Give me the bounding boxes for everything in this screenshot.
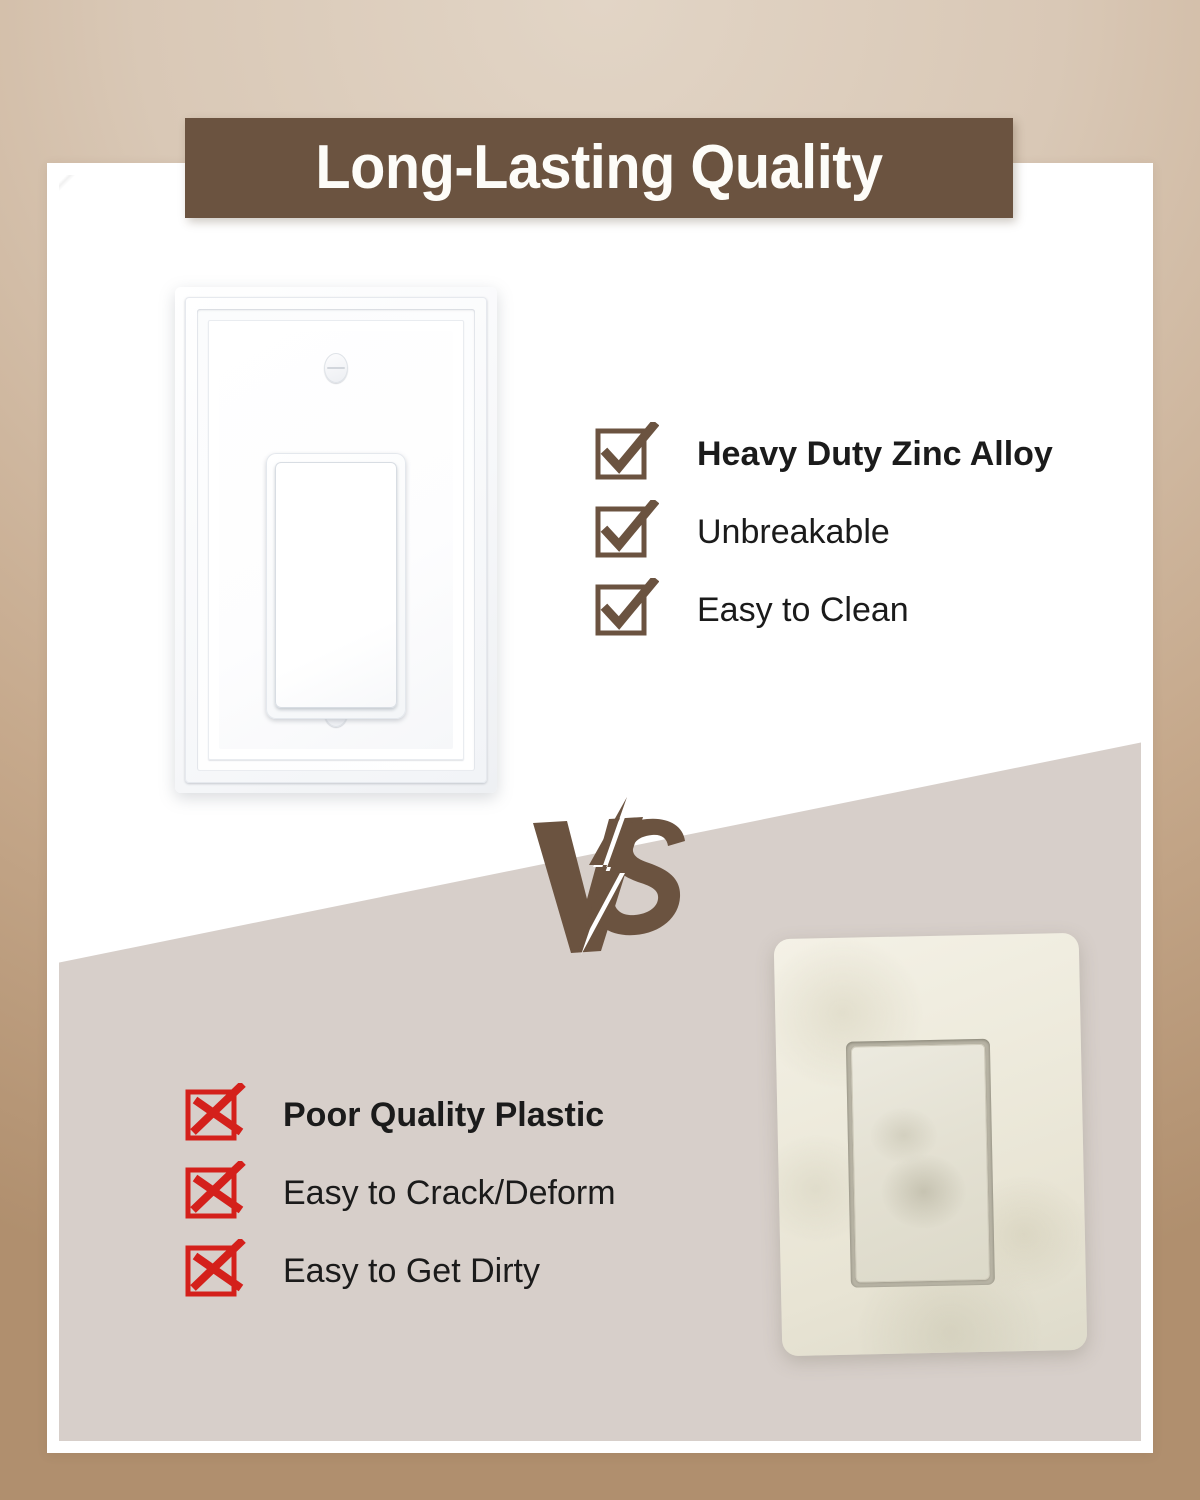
bad-rocker-housing (846, 1039, 995, 1288)
list-item: Heavy Duty Zinc Alloy (596, 415, 1053, 493)
list-item: Easy to Clean (596, 571, 1053, 649)
title-banner: Long-Lasting Quality (185, 118, 1013, 218)
check-box-icon (596, 584, 648, 636)
list-item: Unbreakable (596, 493, 1053, 571)
cross-box-icon (186, 1245, 238, 1297)
rocker-switch-paddle (275, 462, 397, 708)
bad-rocker-paddle (851, 1044, 990, 1283)
plate-face (219, 331, 453, 749)
screw-top-icon (324, 353, 348, 383)
check-box-icon (596, 506, 648, 558)
list-item: Easy to Crack/Deform (186, 1154, 616, 1232)
list-item: Poor Quality Plastic (186, 1076, 616, 1154)
good-feature-list: Heavy Duty Zinc Alloy Unbreakable Easy t… (596, 415, 1053, 649)
bad-feature-list: Poor Quality Plastic Easy to Crack/Defor… (186, 1076, 616, 1310)
bad-rocker-dirt (851, 1044, 990, 1283)
list-item-label: Unbreakable (697, 515, 890, 549)
list-item-label: Easy to Crack/Deform (283, 1176, 616, 1210)
list-item-label: Heavy Duty Zinc Alloy (697, 437, 1053, 471)
good-product-image (175, 287, 497, 793)
list-item-label: Easy to Get Dirty (283, 1254, 540, 1288)
list-item-label: Easy to Clean (697, 593, 909, 627)
vs-lightning-icon (515, 795, 695, 955)
list-item-label: Poor Quality Plastic (283, 1098, 604, 1132)
bad-product-image (774, 933, 1088, 1356)
page-fold-corner (47, 163, 81, 197)
page-title: Long-Lasting Quality (315, 137, 882, 199)
check-box-icon (596, 428, 648, 480)
list-item: Easy to Get Dirty (186, 1232, 616, 1310)
cross-box-icon (186, 1089, 238, 1141)
cross-box-icon (186, 1167, 238, 1219)
rocker-switch-housing (266, 453, 406, 719)
